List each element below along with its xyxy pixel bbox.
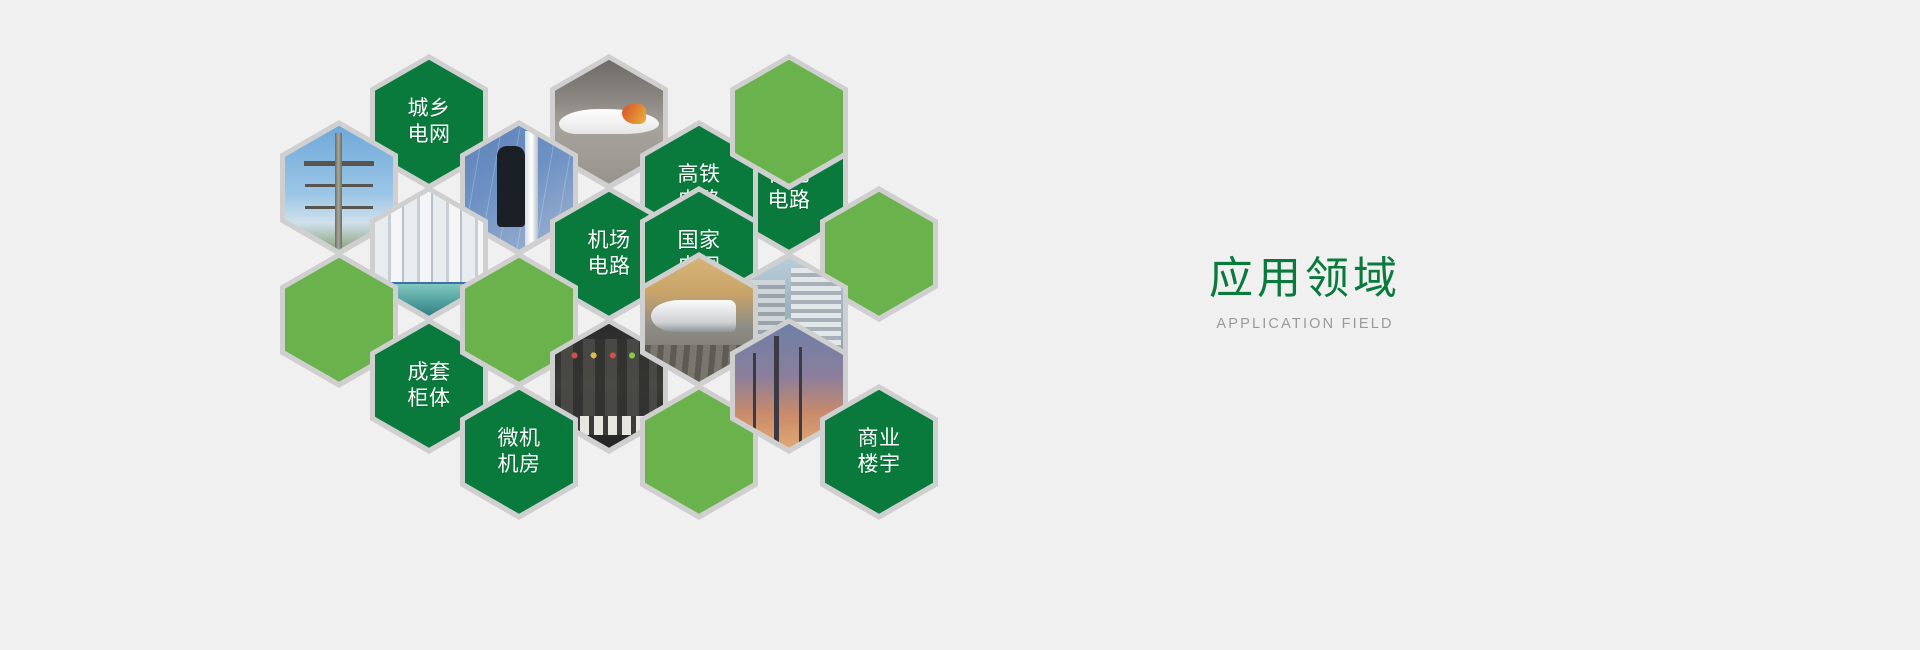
hex-label: 微机 机房 bbox=[498, 426, 541, 477]
application-field-banner: 城乡 电网住宅 电路高铁 电路机场 电路国家 电网成套 柜体微机 机房商业 楼宇… bbox=[0, 0, 1920, 650]
hex-label: 商业 楼宇 bbox=[858, 426, 901, 477]
heading-block: 应用领域 APPLICATION FIELD bbox=[1140, 255, 1470, 332]
hex-label: 机场 电路 bbox=[588, 228, 631, 279]
hex-label: 成套 柜体 bbox=[408, 360, 451, 411]
page-title: 应用领域 bbox=[1140, 255, 1470, 303]
hex-inner: 商业 楼宇 bbox=[825, 390, 933, 514]
hex-inner: 微机 机房 bbox=[465, 390, 573, 514]
page-subtitle: APPLICATION FIELD bbox=[1140, 316, 1470, 332]
hexagon-grid: 城乡 电网住宅 电路高铁 电路机场 电路国家 电网成套 柜体微机 机房商业 楼宇 bbox=[250, 48, 1070, 478]
hex-label: 城乡 电网 bbox=[408, 96, 451, 147]
hex-inner bbox=[735, 60, 843, 184]
